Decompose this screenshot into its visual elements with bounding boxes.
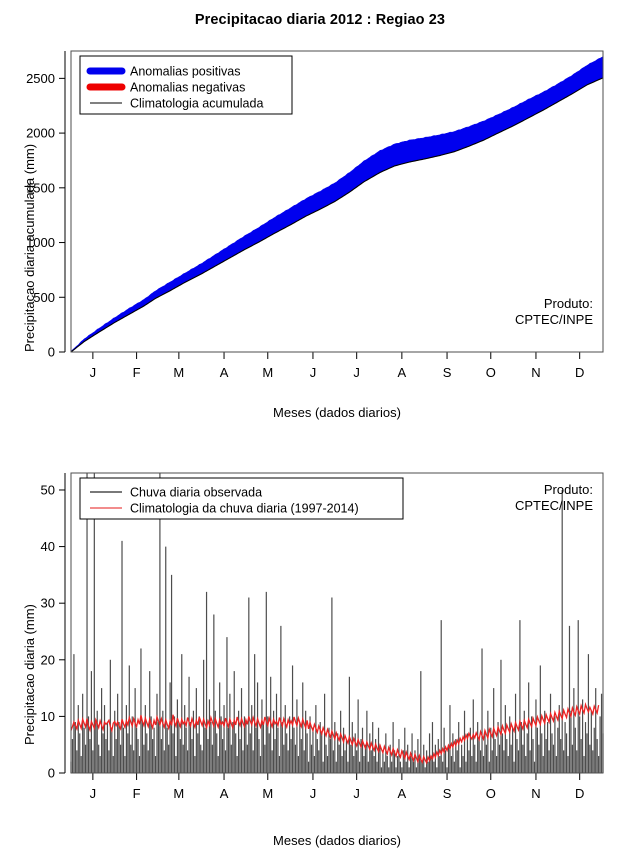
produto-line2: CPTEC/INPE bbox=[443, 312, 593, 328]
x-tick-label: N bbox=[531, 365, 540, 380]
y-tick-label: 50 bbox=[41, 482, 55, 497]
bottom-plot-group: 01020304050JFMAMJJASONDChuva diaria obse… bbox=[41, 473, 603, 801]
x-tick-label: M bbox=[173, 786, 184, 801]
legend-label: Anomalias negativas bbox=[130, 81, 245, 95]
x-tick-label: S bbox=[443, 365, 452, 380]
legend-label: Climatologia da chuva diaria (1997-2014) bbox=[130, 502, 359, 516]
accumulated-precipitation-panel: 05001000150020002500JFMAMJJASONDAnomalia… bbox=[0, 0, 640, 425]
x-axis-title-top: Meses (dados diarios) bbox=[71, 405, 603, 420]
x-tick-label: F bbox=[133, 365, 141, 380]
produto-line1: Produto: bbox=[443, 296, 593, 312]
accumulated-precipitation-chart: 05001000150020002500JFMAMJJASONDAnomalia… bbox=[0, 0, 640, 425]
legend-label: Climatologia acumulada bbox=[130, 97, 263, 111]
x-tick-label: M bbox=[262, 786, 273, 801]
x-tick-label: N bbox=[531, 786, 540, 801]
x-tick-label: A bbox=[220, 365, 229, 380]
legend-label: Chuva diaria observada bbox=[130, 486, 262, 500]
x-tick-label: M bbox=[262, 365, 273, 380]
x-tick-label: J bbox=[90, 365, 97, 380]
top-plot-group: 05001000150020002500JFMAMJJASONDAnomalia… bbox=[26, 51, 603, 380]
x-tick-label: O bbox=[486, 786, 496, 801]
y-axis-title-bottom: Precipitacao diaria (mm) bbox=[22, 604, 37, 745]
y-tick-label: 30 bbox=[41, 596, 55, 611]
x-tick-label: F bbox=[133, 786, 141, 801]
y-tick-label: 10 bbox=[41, 709, 55, 724]
daily-precipitation-panel: 01020304050JFMAMJJASONDChuva diaria obse… bbox=[0, 425, 640, 850]
x-tick-label: J bbox=[90, 786, 97, 801]
y-tick-label: 0 bbox=[48, 345, 55, 360]
y-tick-label: 20 bbox=[41, 652, 55, 667]
chart-page: Precipitacao diaria 2012 : Regiao 23 050… bbox=[0, 0, 640, 850]
x-tick-label: D bbox=[575, 786, 584, 801]
x-tick-label: A bbox=[398, 365, 407, 380]
y-axis-title-top: Precipitacao diaria acumulada (mm) bbox=[22, 144, 37, 352]
x-tick-label: J bbox=[310, 365, 317, 380]
y-tick-label: 0 bbox=[48, 766, 55, 781]
x-tick-label: J bbox=[353, 786, 360, 801]
y-tick-label: 40 bbox=[41, 539, 55, 554]
x-tick-label: O bbox=[486, 365, 496, 380]
x-tick-label: J bbox=[310, 786, 317, 801]
x-tick-label: A bbox=[398, 786, 407, 801]
x-tick-label: D bbox=[575, 365, 584, 380]
x-axis-title-bottom: Meses (dados diarios) bbox=[71, 833, 603, 848]
legend-label: Anomalias positivas bbox=[130, 65, 240, 79]
y-tick-label: 2000 bbox=[26, 126, 55, 141]
x-tick-label: A bbox=[220, 786, 229, 801]
y-tick-label: 2500 bbox=[26, 71, 55, 86]
produto-line2: CPTEC/INPE bbox=[443, 498, 593, 514]
produto-annotation-bottom: Produto: CPTEC/INPE bbox=[443, 482, 593, 515]
produto-annotation-top: Produto: CPTEC/INPE bbox=[443, 296, 593, 329]
x-tick-label: S bbox=[443, 786, 452, 801]
produto-line1: Produto: bbox=[443, 482, 593, 498]
x-tick-label: M bbox=[173, 365, 184, 380]
x-tick-label: J bbox=[353, 365, 360, 380]
